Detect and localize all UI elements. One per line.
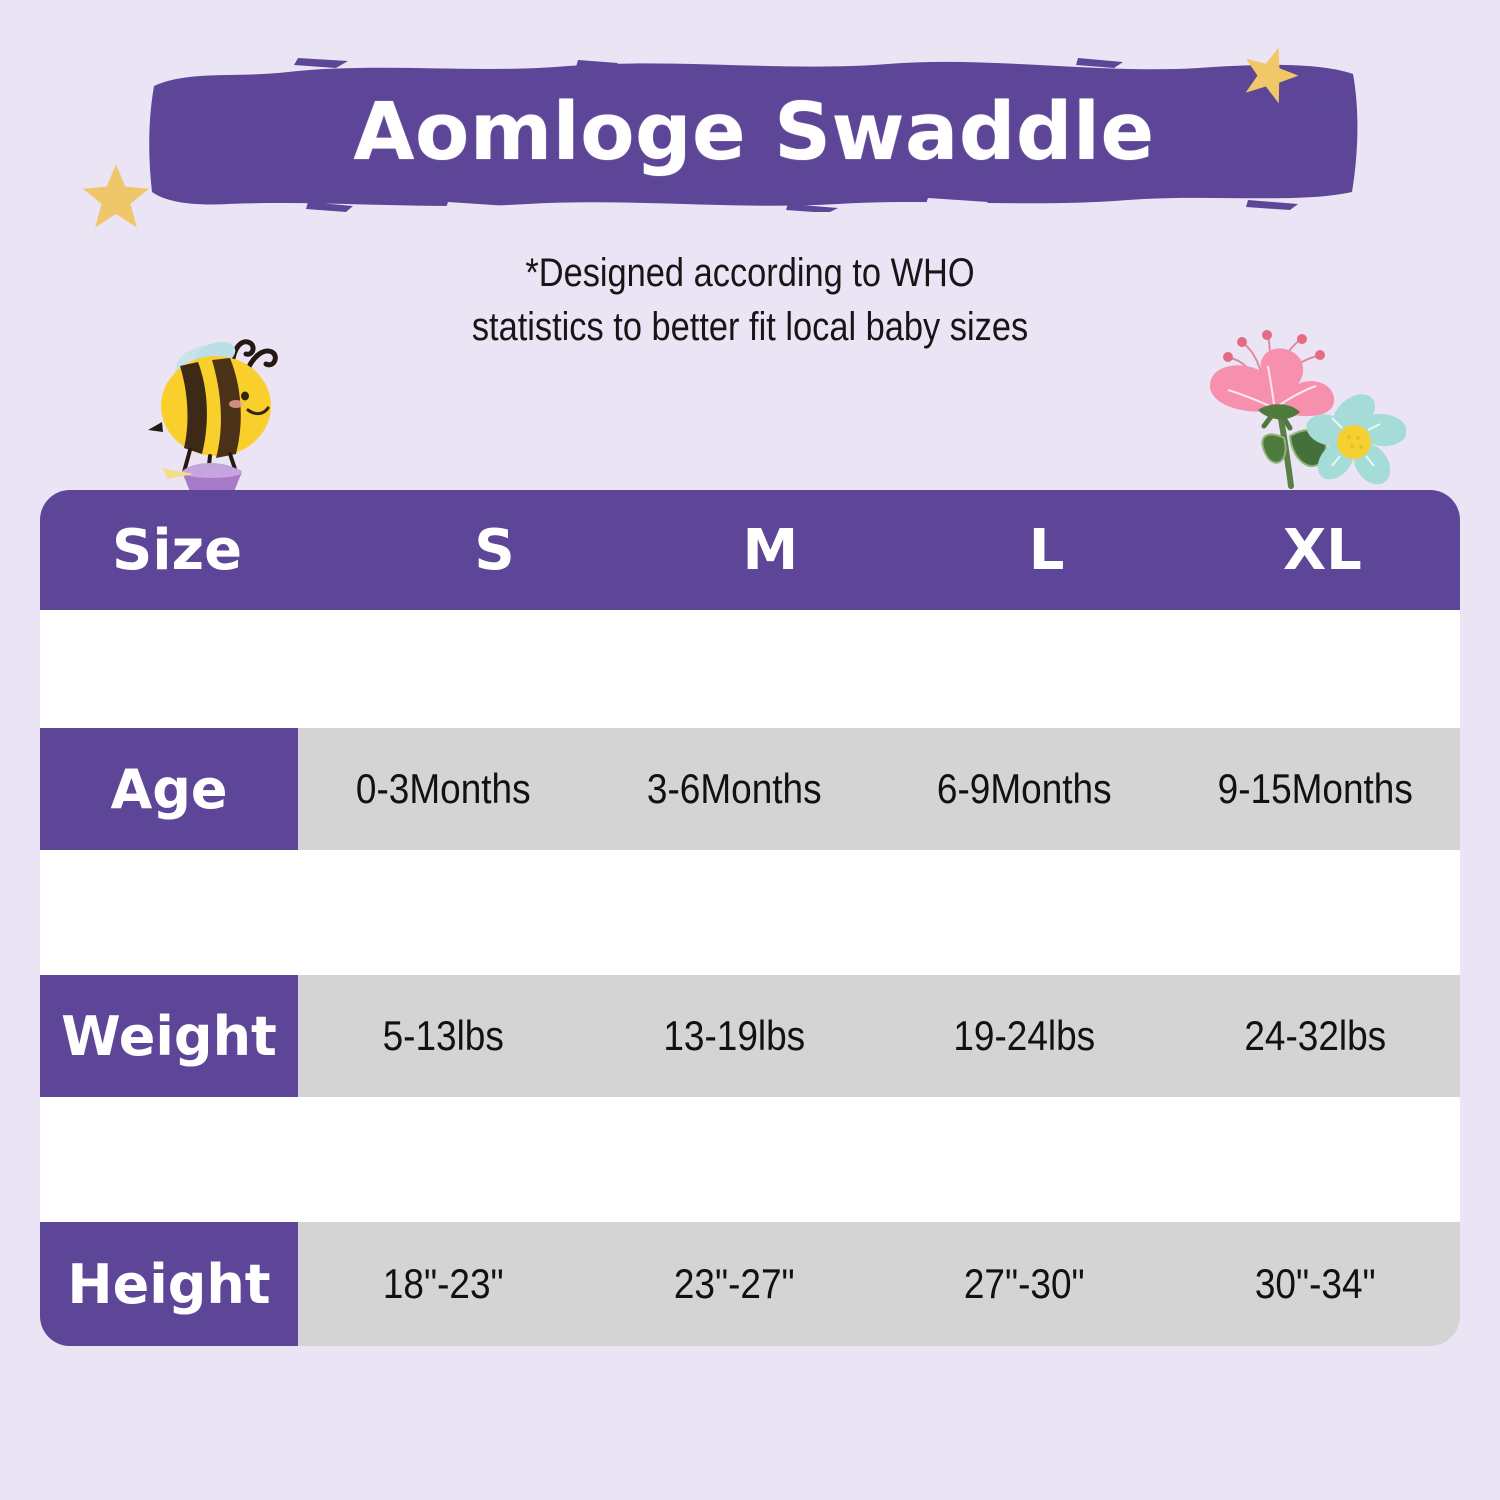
cell-weight-l: 19-24lbs [896,975,1152,1097]
row-label-age: Age [40,728,298,850]
cell-height-l: 27"-30" [896,1222,1152,1346]
header-cell-size: Size [40,490,357,610]
table-row-height: Height 18"-23" 23"-27" 27"-30" 30"-34" [40,1222,1460,1346]
header-cell-m: M [632,490,908,610]
cell-age-m: 3-6Months [606,728,862,850]
row-label-height: Height [40,1222,298,1346]
header-cell-s: S [357,490,632,610]
row-values-weight: 5-13lbs 13-19lbs 19-24lbs 24-32lbs [298,975,1460,1097]
table-row-weight: Weight 5-13lbs 13-19lbs 19-24lbs 24-32lb… [40,975,1460,1097]
row-values-height: 18"-23" 23"-27" 27"-30" 30"-34" [298,1222,1460,1346]
table-row-age: Age 0-3Months 3-6Months 6-9Months 9-15Mo… [40,728,1460,850]
table-header-row: Size S M L XL [40,490,1460,610]
table-spacer-band [40,1097,1460,1222]
cell-weight-s: 5-13lbs [315,975,571,1097]
cell-height-xl: 30"-34" [1187,1222,1443,1346]
cell-height-s: 18"-23" [315,1222,571,1346]
cell-weight-m: 13-19lbs [606,975,862,1097]
header-cell-l: L [908,490,1184,610]
title-banner: Aomloge Swaddle [148,52,1360,212]
flowers-icon [1186,318,1406,498]
cell-age-xl: 9-15Months [1187,728,1443,850]
row-values-age: 0-3Months 3-6Months 6-9Months 9-15Months [298,728,1460,850]
cell-weight-xl: 24-32lbs [1187,975,1443,1097]
header-cell-xl: XL [1185,490,1460,610]
bee-icon [132,322,292,497]
cell-height-m: 23"-27" [606,1222,862,1346]
cell-age-l: 6-9Months [896,728,1152,850]
table-spacer-band [40,610,1460,728]
table-spacer-band [40,850,1460,975]
page-title: Aomloge Swaddle [148,52,1360,212]
row-label-weight: Weight [40,975,298,1097]
subtitle-line-1: *Designed according to WHO [105,246,1395,300]
size-chart-table: Size S M L XL Age 0-3Months 3-6Months 6-… [40,490,1460,1346]
cell-age-s: 0-3Months [315,728,571,850]
star-icon [80,160,152,232]
